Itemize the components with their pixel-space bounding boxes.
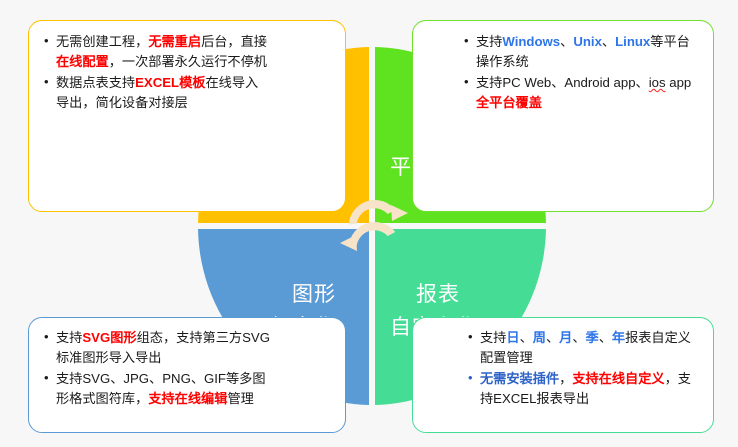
callout-online-bullets: 无需创建工程，无需重启后台，直接在线配置，一次部署永久运行不停机 数据点表支持E… [43,32,269,114]
callout-cross-platform[interactable]: 支持Windows、Unix、Linux等平台操作系统 支持PC Web、And… [412,20,714,212]
bullet-text-graphics-1: 支持SVG图形组态，支持第三方SVG标准图形导入导出 [56,330,270,365]
list-item: 支持SVG图形组态，支持第三方SVG标准图形导入导出 [43,328,271,367]
callout-report-bullets: 支持日、周、月、季、年报表自定义配置管理 无需安装插件，支持在线自定义，支持EX… [467,328,701,410]
list-item: 无需安装插件，支持在线自定义，支持EXCEL报表导出 [467,369,701,408]
list-item: 数据点表支持EXCEL模板在线导入导出，简化设备对接层 [43,73,269,112]
bullet-text-online-2: 数据点表支持EXCEL模板在线导入导出，简化设备对接层 [56,75,258,110]
quadrant-label-report-line1: 报表 [390,279,478,312]
bullet-text-report-1: 支持日、周、月、季、年报表自定义配置管理 [480,330,691,365]
bullet-text-report-2: 无需安装插件，支持在线自定义，支持EXCEL报表导出 [480,371,691,406]
list-item: 无需创建工程，无需重启后台，直接在线配置，一次部署永久运行不停机 [43,32,269,71]
list-item: 支持SVG、JPG、PNG、GIF等多图形格式图符库，支持在线编辑管理 [43,369,271,408]
diagram-canvas: 在线化 跨 平台化 图形 组态化 报表 自定义化 无需创建工程，无需重启后台，直… [0,0,738,447]
callout-online[interactable]: 无需创建工程，无需重启后台，直接在线配置，一次部署永久运行不停机 数据点表支持E… [28,20,346,212]
callout-graphics-bullets: 支持SVG图形组态，支持第三方SVG标准图形导入导出 支持SVG、JPG、PNG… [43,328,271,410]
quadrant-label-graphics-line1: 图形 [292,283,336,306]
callout-cross-platform-bullets: 支持Windows、Unix、Linux等平台操作系统 支持PC Web、And… [463,32,701,114]
callout-report[interactable]: 支持日、周、月、季、年报表自定义配置管理 无需安装插件，支持在线自定义，支持EX… [412,317,714,433]
list-item: 支持PC Web、Android app、ios app全平台覆盖 [463,73,701,112]
list-item: 支持日、周、月、季、年报表自定义配置管理 [467,328,701,367]
bullet-text-platform-2: 支持PC Web、Android app、ios app全平台覆盖 [476,75,691,110]
bullet-text-platform-1: 支持Windows、Unix、Linux等平台操作系统 [476,34,690,69]
list-item: 支持Windows、Unix、Linux等平台操作系统 [463,32,701,71]
callout-graphics[interactable]: 支持SVG图形组态，支持第三方SVG标准图形导入导出 支持SVG、JPG、PNG… [28,317,346,433]
bullet-text-graphics-2: 支持SVG、JPG、PNG、GIF等多图形格式图符库，支持在线编辑管理 [56,371,266,406]
bullet-text-online-1: 无需创建工程，无需重启后台，直接在线配置，一次部署永久运行不停机 [56,34,267,69]
